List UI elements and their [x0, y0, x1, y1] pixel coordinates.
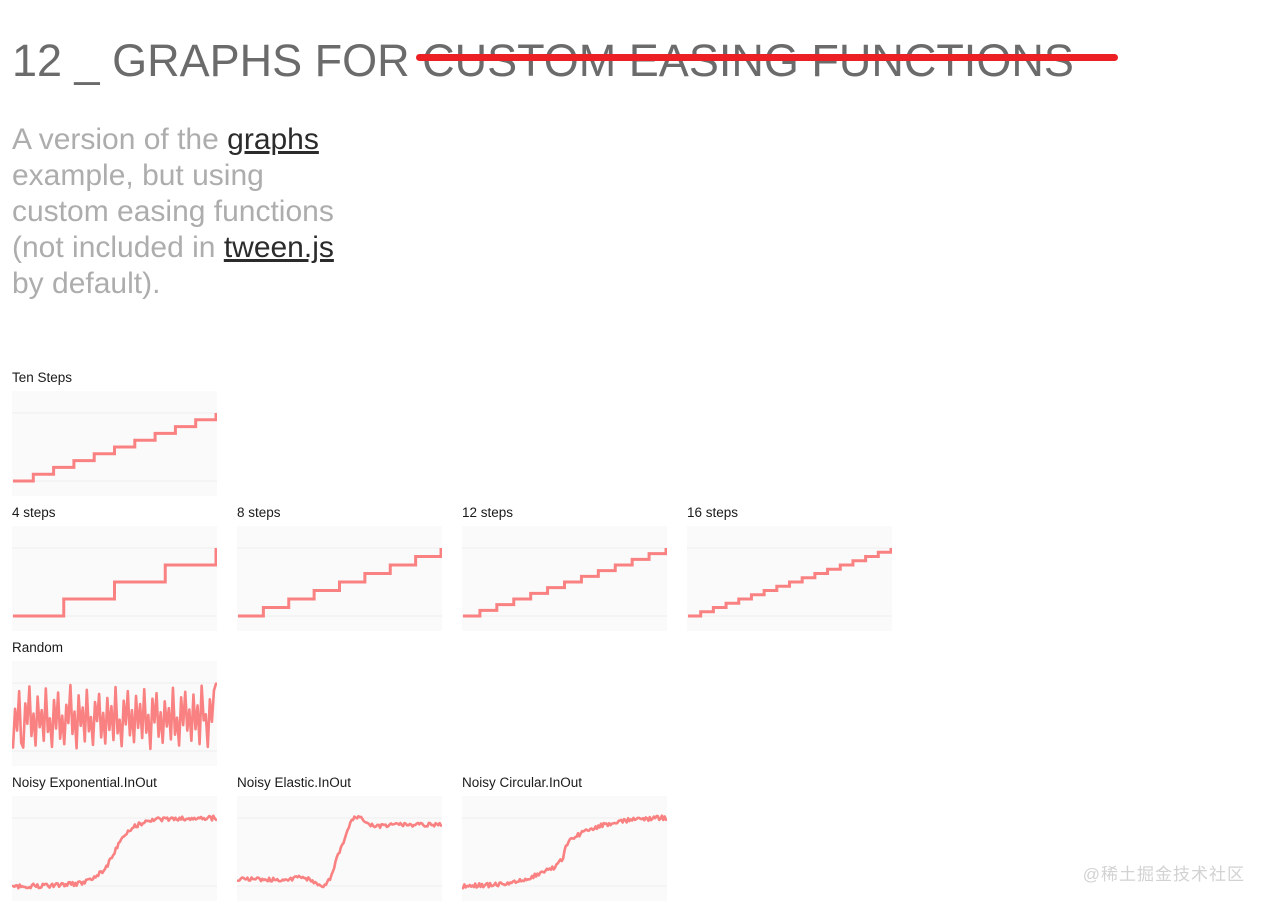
series-line-eight-steps [238, 548, 441, 616]
graphs-link[interactable]: graphs [227, 123, 319, 156]
series-line-noisy-exponential-inout [13, 816, 216, 888]
chart-title-noisy-circular-inout: Noisy Circular.InOut [462, 775, 667, 791]
series-line-noisy-circular-inout [463, 816, 666, 889]
series-line-twelve-steps [463, 548, 666, 616]
chart-row: 4 steps8 steps12 steps16 steps [0, 505, 1263, 640]
chart-cell-noisy-exponential-inout: Noisy Exponential.InOut [12, 775, 217, 901]
chart-panel-sixteen-steps [687, 526, 892, 631]
chart-cell-noisy-circular-inout: Noisy Circular.InOut [462, 775, 667, 901]
series-line-noisy-elastic-inout [238, 816, 441, 887]
description-part-1: A version of the [12, 123, 227, 156]
watermark: @稀土掘金技术社区 [1083, 860, 1245, 885]
title-underline [416, 54, 1118, 61]
chart-row: Random [0, 640, 1263, 775]
chart-panel-noisy-circular-inout [462, 796, 667, 901]
chart-cell-four-steps: 4 steps [12, 505, 217, 631]
chart-panel-four-steps [12, 526, 217, 631]
chart-cell-random: Random [12, 640, 217, 766]
chart-cell-eight-steps: 8 steps [237, 505, 442, 631]
chart-row: Ten Steps [0, 370, 1263, 505]
charts-area: Ten Steps4 steps8 steps12 steps16 stepsR… [0, 370, 1263, 910]
series-line-four-steps [13, 548, 216, 616]
chart-panel-twelve-steps [462, 526, 667, 631]
chart-cell-noisy-elastic-inout: Noisy Elastic.InOut [237, 775, 442, 901]
chart-row: Noisy Exponential.InOutNoisy Elastic.InO… [0, 775, 1263, 910]
series-line-sixteen-steps [688, 548, 891, 616]
chart-panel-eight-steps [237, 526, 442, 631]
chart-cell-twelve-steps: 12 steps [462, 505, 667, 631]
tweenjs-link[interactable]: tween.js [224, 231, 334, 264]
chart-panel-noisy-exponential-inout [12, 796, 217, 901]
chart-panel-ten-steps [12, 391, 217, 496]
page-title: 12 _ GRAPHS FOR CUSTOM EASING FUNCTIONS [12, 32, 1074, 90]
series-line-ten-steps [13, 413, 216, 481]
chart-title-ten-steps: Ten Steps [12, 370, 217, 386]
chart-title-eight-steps: 8 steps [237, 505, 442, 521]
chart-cell-sixteen-steps: 16 steps [687, 505, 892, 631]
chart-panel-random [12, 661, 217, 766]
series-line-random [13, 684, 216, 749]
chart-title-noisy-exponential-inout: Noisy Exponential.InOut [12, 775, 217, 791]
chart-panel-noisy-elastic-inout [237, 796, 442, 901]
chart-cell-ten-steps: Ten Steps [12, 370, 217, 496]
chart-title-twelve-steps: 12 steps [462, 505, 667, 521]
chart-title-random: Random [12, 640, 217, 656]
chart-title-four-steps: 4 steps [12, 505, 217, 521]
page-description: A version of the graphs example, but usi… [12, 122, 352, 302]
chart-title-noisy-elastic-inout: Noisy Elastic.InOut [237, 775, 442, 791]
chart-title-sixteen-steps: 16 steps [687, 505, 892, 521]
description-part-3: by default). [12, 267, 160, 300]
